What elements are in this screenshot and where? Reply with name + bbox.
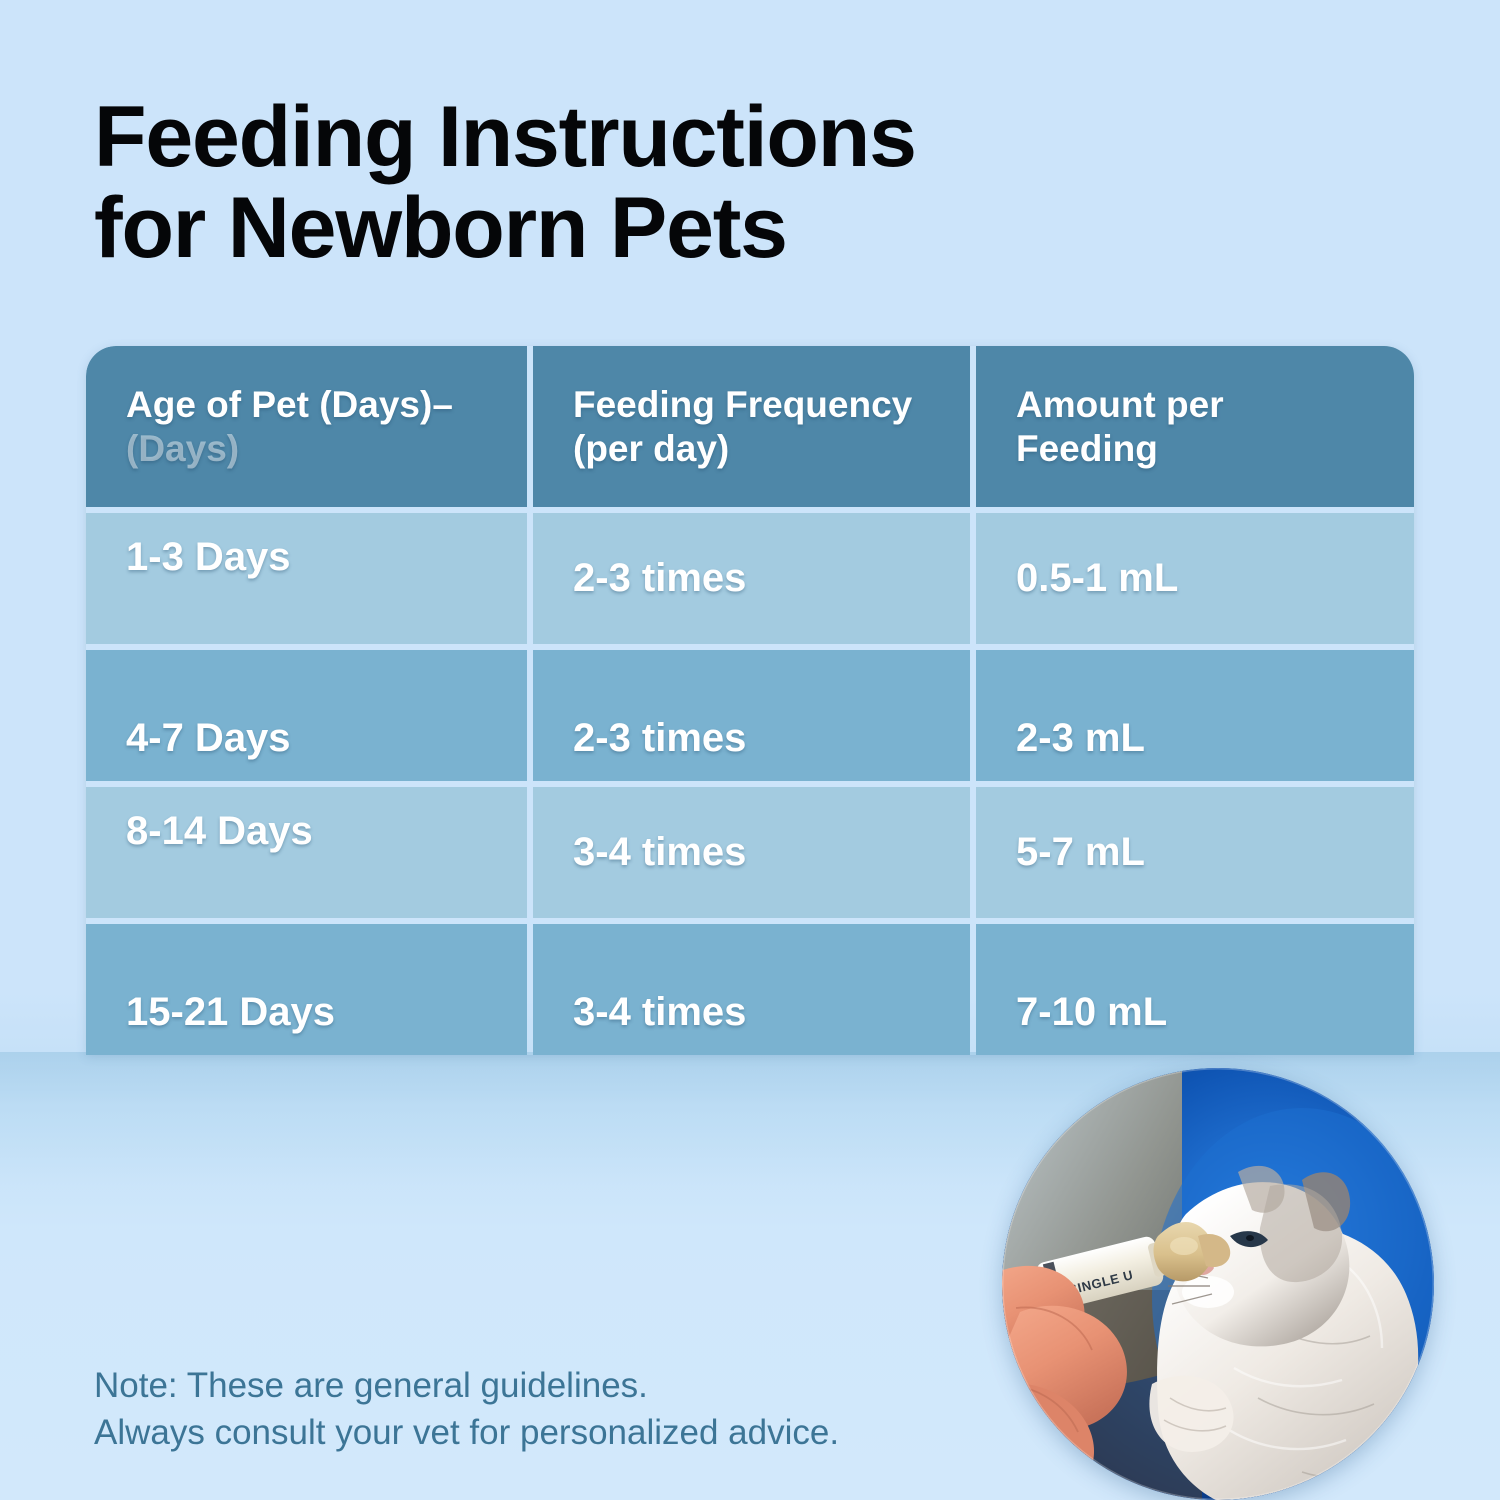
cell-age: 1-3 Days [86, 513, 527, 644]
cell-amount: 0.5-1 mL [976, 513, 1414, 644]
kitten-photo-illustration: SINGLE U [1002, 1068, 1434, 1500]
feeding-table: Age of Pet (Days)– (Days) Feeding Freque… [86, 346, 1414, 1055]
page-title: Feeding Instructions for Newborn Pets [94, 92, 1194, 274]
cell-frequency: 2-3 times [533, 650, 970, 781]
cell-amount: 5-7 mL [976, 787, 1414, 918]
cell-frequency: 2-3 times [533, 513, 970, 644]
cell-age: 4-7 Days [86, 650, 527, 781]
header-cell-amount: Amount per Feeding [976, 346, 1414, 507]
cell-frequency: 3-4 times [533, 787, 970, 918]
table-header-row: Age of Pet (Days)– (Days) Feeding Freque… [86, 346, 1414, 507]
header-cell-age: Age of Pet (Days)– (Days) [86, 346, 527, 507]
header-age-main: Age of Pet (Days)– [126, 383, 453, 427]
cell-amount: 2-3 mL [976, 650, 1414, 781]
table-row: 8-14 Days 3-4 times 5-7 mL [86, 787, 1414, 918]
cell-amount: 7-10 mL [976, 924, 1414, 1055]
cell-frequency: 3-4 times [533, 924, 970, 1055]
header-frequency-label: Feeding Frequency (per day) [573, 383, 912, 470]
header-amount-label: Amount per Feeding [1016, 383, 1224, 470]
footer-note: Note: These are general guidelines. Alwa… [94, 1362, 934, 1457]
table-row: 1-3 Days 2-3 times 0.5-1 mL [86, 513, 1414, 644]
cell-age: 15-21 Days [86, 924, 527, 1055]
infographic-sheet: Feeding Instructions for Newborn Pets Ag… [0, 0, 1500, 1500]
table-row: 4-7 Days 2-3 times 2-3 mL [86, 650, 1414, 781]
header-cell-frequency: Feeding Frequency (per day) [533, 346, 970, 507]
header-age-sub: (Days) [126, 427, 453, 471]
cell-age: 8-14 Days [86, 787, 527, 918]
table-row: 15-21 Days 3-4 times 7-10 mL [86, 924, 1414, 1055]
kitten-feeding-photo: SINGLE U [1002, 1068, 1434, 1500]
